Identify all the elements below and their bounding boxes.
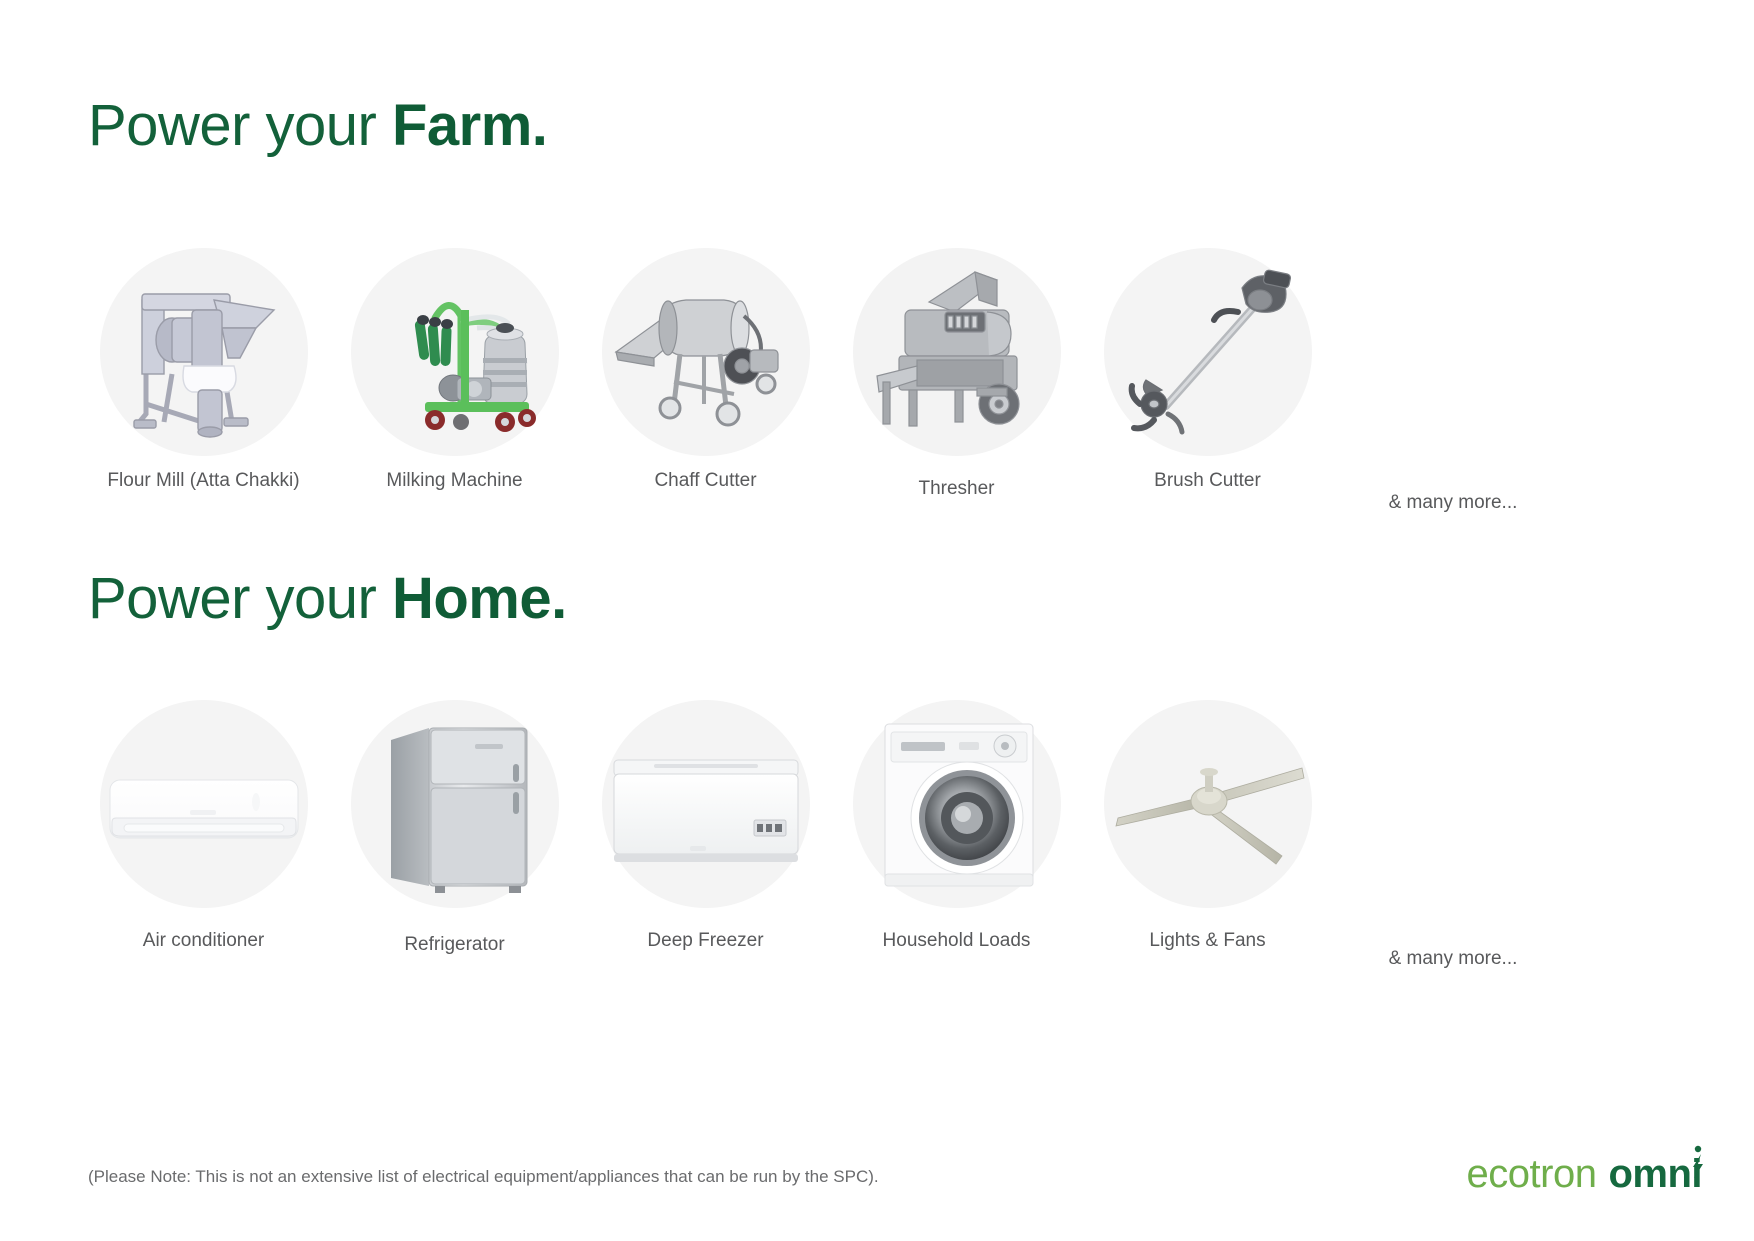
product-label: Chaff Cutter [654, 470, 756, 492]
product-disc [100, 248, 308, 456]
product-card-air-conditioner[interactable]: Air conditioner [78, 700, 329, 952]
product-label: Refrigerator [404, 934, 504, 956]
product-label: Milking Machine [386, 470, 522, 492]
heading-farm-light: Power your [88, 93, 392, 158]
product-card-flour-mill[interactable]: Flour Mill (Atta Chakki) [78, 248, 329, 492]
product-disc [853, 700, 1061, 908]
more-label: & many more... [1389, 948, 1518, 970]
product-card-milking-machine[interactable]: Milking Machine [329, 248, 580, 492]
heading-home-bold: Home. [392, 566, 567, 631]
page-title-home: Power your Home. [88, 567, 567, 631]
product-card-deep-freezer[interactable]: Deep Freezer [580, 700, 831, 952]
product-label: Thresher [918, 478, 994, 500]
slide-canvas: Power your Farm. [0, 0, 1754, 1241]
brand-logo: ecotron omni [1467, 1152, 1702, 1197]
product-disc [351, 700, 559, 908]
product-disc [351, 248, 559, 456]
flour-mill-icon [106, 254, 302, 450]
product-disc [1104, 700, 1312, 908]
product-disc [602, 248, 810, 456]
product-disc [1104, 248, 1312, 456]
product-card-lights-and-fans[interactable]: Lights & Fans [1082, 700, 1333, 952]
product-label: Brush Cutter [1154, 470, 1261, 492]
logo-omni-text: omni [1608, 1152, 1702, 1196]
chaff-cutter-icon [608, 254, 804, 450]
lightning-bolt-icon [1689, 1145, 1705, 1179]
product-label: Air conditioner [143, 930, 264, 952]
footer-note: (Please Note: This is not an extensive l… [88, 1167, 879, 1187]
ceiling-fan-icon [1110, 706, 1306, 902]
brush-cutter-icon [1110, 254, 1306, 450]
milking-machine-icon [357, 254, 553, 450]
more-label: & many more... [1389, 492, 1518, 514]
refrigerator-icon [357, 706, 553, 902]
product-card-chaff-cutter[interactable]: Chaff Cutter [580, 248, 831, 492]
home-product-row: Air conditioner [78, 700, 1678, 970]
product-label: Deep Freezer [647, 930, 763, 952]
air-conditioner-icon [106, 706, 302, 902]
farm-product-row: Flour Mill (Atta Chakki) [78, 248, 1678, 514]
product-card-refrigerator[interactable]: Refrigerator [329, 700, 580, 956]
product-label: Household Loads [883, 930, 1031, 952]
product-disc [602, 700, 810, 908]
farm-more-cell: & many more... [1333, 248, 1573, 514]
logo-word-ecotron: ecotron [1467, 1152, 1597, 1197]
product-card-brush-cutter[interactable]: Brush Cutter [1082, 248, 1333, 492]
page-title-farm: Power your Farm. [88, 94, 547, 158]
heading-farm-bold: Farm. [392, 93, 547, 158]
thresher-icon [859, 254, 1055, 450]
product-label: Flour Mill (Atta Chakki) [107, 470, 299, 492]
logo-word-omni: omni [1608, 1152, 1702, 1197]
deep-freezer-icon [608, 706, 804, 902]
washing-machine-icon [859, 706, 1055, 902]
heading-home-light: Power your [88, 566, 392, 631]
product-disc [100, 700, 308, 908]
product-disc [853, 248, 1061, 456]
home-more-cell: & many more... [1333, 700, 1573, 970]
product-card-household-loads[interactable]: Household Loads [831, 700, 1082, 952]
product-label: Lights & Fans [1149, 930, 1265, 952]
product-card-thresher[interactable]: Thresher [831, 248, 1082, 500]
